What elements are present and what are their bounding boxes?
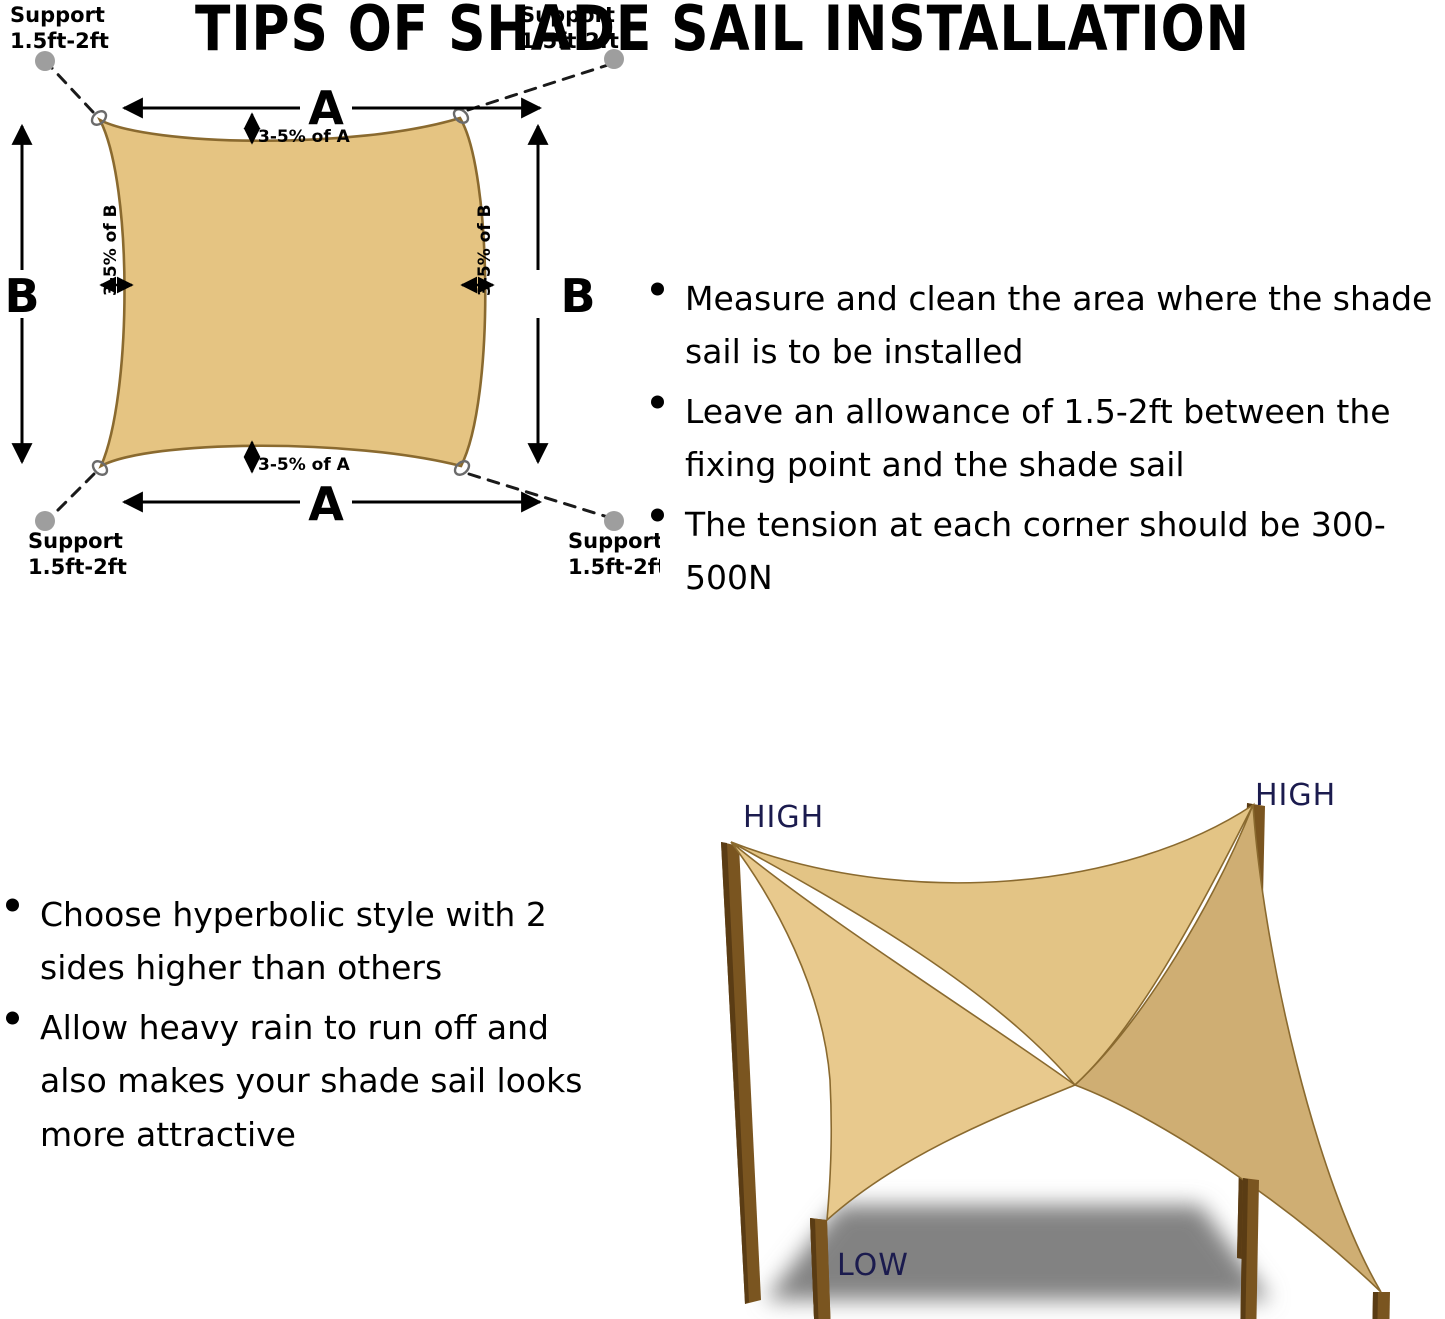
list-item: Leave an allowance of 1.5-2ft between th… (645, 385, 1445, 492)
support-label-top-right: Support 1.5ft-2ft (520, 3, 619, 53)
dimension-b-left: B (4, 126, 39, 462)
tips-list-right: Measure and clean the area where the sha… (645, 272, 1445, 611)
list-item: Measure and clean the area where the sha… (645, 272, 1445, 379)
curve-depth-label: 3-5% of B (475, 204, 495, 296)
dimension-b-label: B (4, 269, 39, 323)
label-high-right: HIGH (1255, 780, 1336, 813)
support-label-line1: Support (10, 3, 105, 27)
dimension-b-label: B (560, 269, 595, 323)
hyperbolic-sail-illustration: HIGH HIGH LOW LOW (655, 780, 1445, 1319)
dimension-b-right: B (538, 126, 596, 462)
support-label-line2: 1.5ft-2ft (520, 29, 619, 53)
support-label-line2: 1.5ft-2ft (28, 555, 127, 579)
sail-shape (100, 118, 485, 466)
list-item: Choose hyperbolic style with 2 sides hig… (0, 888, 620, 995)
support-label-line1: Support (520, 3, 615, 27)
list-item-text: Choose hyperbolic style with 2 sides hig… (40, 895, 547, 987)
dimension-a-bottom: A (124, 477, 540, 531)
label-low-left: LOW (837, 1248, 909, 1283)
support-label-bottom-left: Support 1.5ft-2ft (28, 529, 127, 579)
bullet-dot-icon (651, 283, 664, 296)
bullet-dot-icon (651, 508, 664, 521)
support-label-top-left: Support 1.5ft-2ft (10, 3, 109, 53)
curve-depth-label: 3-5% of B (101, 204, 121, 296)
post-low-right (1371, 1292, 1390, 1319)
list-item: The tension at each corner should be 300… (645, 498, 1445, 605)
list-item-text: Measure and clean the area where the sha… (685, 279, 1432, 371)
support-label-line1: Support (28, 529, 123, 553)
list-item-text: Allow heavy rain to run off and also mak… (40, 1008, 582, 1154)
list-item-text: Leave an allowance of 1.5-2ft between th… (685, 392, 1391, 484)
list-item: Allow heavy rain to run off and also mak… (0, 1001, 620, 1161)
label-high-left: HIGH (743, 800, 824, 835)
curve-depth-label: 3-5% of A (258, 127, 351, 147)
bullet-dot-icon (651, 396, 664, 409)
bullet-dot-icon (6, 899, 19, 912)
bullet-dot-icon (6, 1012, 19, 1025)
tips-list-left: Choose hyperbolic style with 2 sides hig… (0, 888, 620, 1167)
list-item-text: The tension at each corner should be 300… (685, 505, 1386, 597)
post-high-left (721, 842, 761, 1304)
curve-depth-label: 3-5% of A (258, 455, 351, 475)
rectangular-sail-diagram: Support 1.5ft-2ft Support 1.5ft-2ft Supp… (0, 0, 660, 580)
support-label-line2: 1.5ft-2ft (10, 29, 109, 53)
dimension-a-label: A (308, 477, 344, 531)
